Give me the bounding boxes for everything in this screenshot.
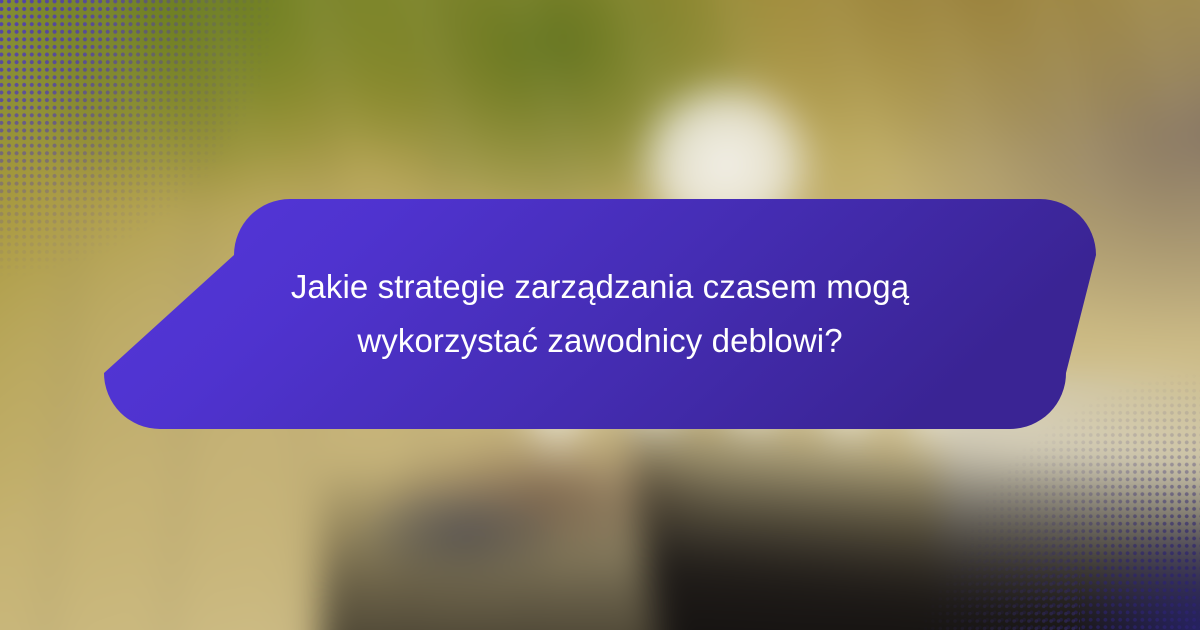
background-dark-foreground bbox=[320, 460, 1200, 630]
social-card-canvas: Jakie strategie zarządzania czasem mogą … bbox=[0, 0, 1200, 630]
question-line-2: wykorzystać zawodnicy deblowi? bbox=[357, 322, 842, 359]
question-card: Jakie strategie zarządzania czasem mogą … bbox=[104, 199, 1096, 429]
question-line-1: Jakie strategie zarządzania czasem mogą bbox=[291, 268, 909, 305]
question-text: Jakie strategie zarządzania czasem mogą … bbox=[104, 260, 1096, 368]
